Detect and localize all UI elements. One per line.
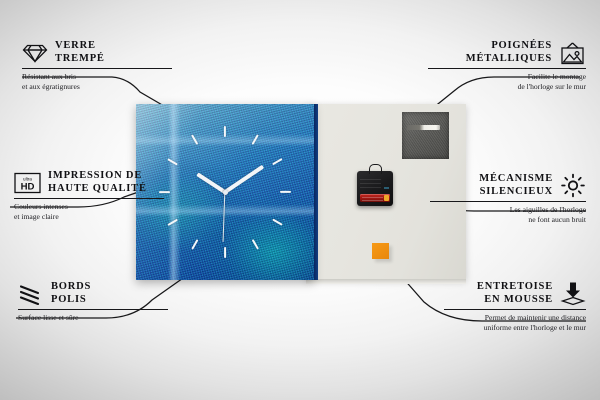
divider [22,68,172,69]
infographic-canvas: VERRE TREMPÉ Résistant aux bris et aux é… [0,0,600,400]
clock-tick [167,219,178,226]
feature-subtitle-line1: Résistant aux bris [22,72,172,82]
clock-tick [252,134,259,145]
feature-verre-trempe: VERRE TREMPÉ Résistant aux bris et aux é… [22,40,172,91]
feature-title-line2: TREMPÉ [55,53,105,66]
feature-subtitle-line1: Couleurs intenses [14,202,164,212]
feature-subtitle-line2: ne font aucun bruit [430,215,586,225]
feature-title-line2: EN MOUSSE [477,294,553,307]
feature-title-line2: SILENCIEUX [479,186,553,199]
feature-mecanisme-silencieux: MÉCANISME SILENCIEUX Les aiguilles de l'… [430,173,586,224]
feature-impression-haute-qualite: ultra HD IMPRESSION DE HAUTE QUALITÉ Cou… [14,170,164,221]
mechanism-label [360,176,381,188]
foam-spacer [372,243,389,259]
feature-title-line2: POLIS [51,294,91,307]
feature-title-line1: BORDS [51,281,91,294]
second-hand [223,192,226,242]
polished-edges-icon [18,283,44,305]
clock-tick [167,158,178,165]
gear-icon [560,173,586,198]
product-image [136,104,466,280]
hanger-keyhole-slot [407,125,440,131]
feature-poignees-metalliques: POIGNÉES MÉTALLIQUES Facilite le montage… [428,40,586,91]
panel-edge [314,104,318,280]
divider [430,201,586,202]
clock-mechanism [357,171,393,206]
clock-tick [191,134,198,145]
battery [360,194,390,202]
feature-title-line1: ENTRETOISE [477,281,553,294]
feature-bords-polis: BORDS POLIS Surface lisse et sûre [18,281,168,323]
metal-hanger-plate [402,112,449,159]
clock-tick [272,158,283,165]
diamond-icon [22,42,48,64]
feature-subtitle-line1: Les aiguilles de l'horloge [430,205,586,215]
feature-title-line2: HAUTE QUALITÉ [48,183,147,196]
feature-subtitle-line1: Facilite le montage [428,72,586,82]
feature-subtitle-line2: et aux égratignures [22,82,172,92]
feature-subtitle-line1: Permet de maintenir une distance [444,313,586,323]
feature-title-line2: MÉTALLIQUES [466,53,552,66]
divider [18,309,168,310]
svg-text:HD: HD [21,181,35,192]
feature-title-line1: MÉCANISME [479,173,553,186]
divider [444,309,586,310]
clock-tick [252,239,259,250]
feature-subtitle-line2: et image claire [14,212,164,222]
divider [428,68,586,69]
feature-subtitle-line2: de l'horloge sur le mur [428,82,586,92]
ultra-hd-icon: ultra HD [14,172,41,194]
wall-hanger-icon [559,41,586,65]
spacer-arrow-icon [560,281,586,306]
clock-tick [272,219,283,226]
clock-tick [224,247,226,258]
clock-tick [191,239,198,250]
feature-title-line1: POIGNÉES [466,40,552,53]
feature-subtitle-line1: Surface lisse et sûre [18,313,168,323]
divider [14,198,164,199]
feature-subtitle-line2: uniforme entre l'horloge et le mur [444,323,586,333]
battery-label [362,195,383,200]
mechanism-hook [369,164,382,174]
minute-hand [224,165,264,194]
feature-entretoise-en-mousse: ENTRETOISE EN MOUSSE Permet de maintenir… [444,281,586,332]
mechanism-marker [384,187,389,189]
feature-title-line1: VERRE [55,40,105,53]
hour-hand [196,172,226,193]
clock-tick [224,126,226,137]
hands-center-cap [223,190,228,195]
clock-tick [280,191,291,193]
feature-title-line1: IMPRESSION DE [48,170,147,183]
